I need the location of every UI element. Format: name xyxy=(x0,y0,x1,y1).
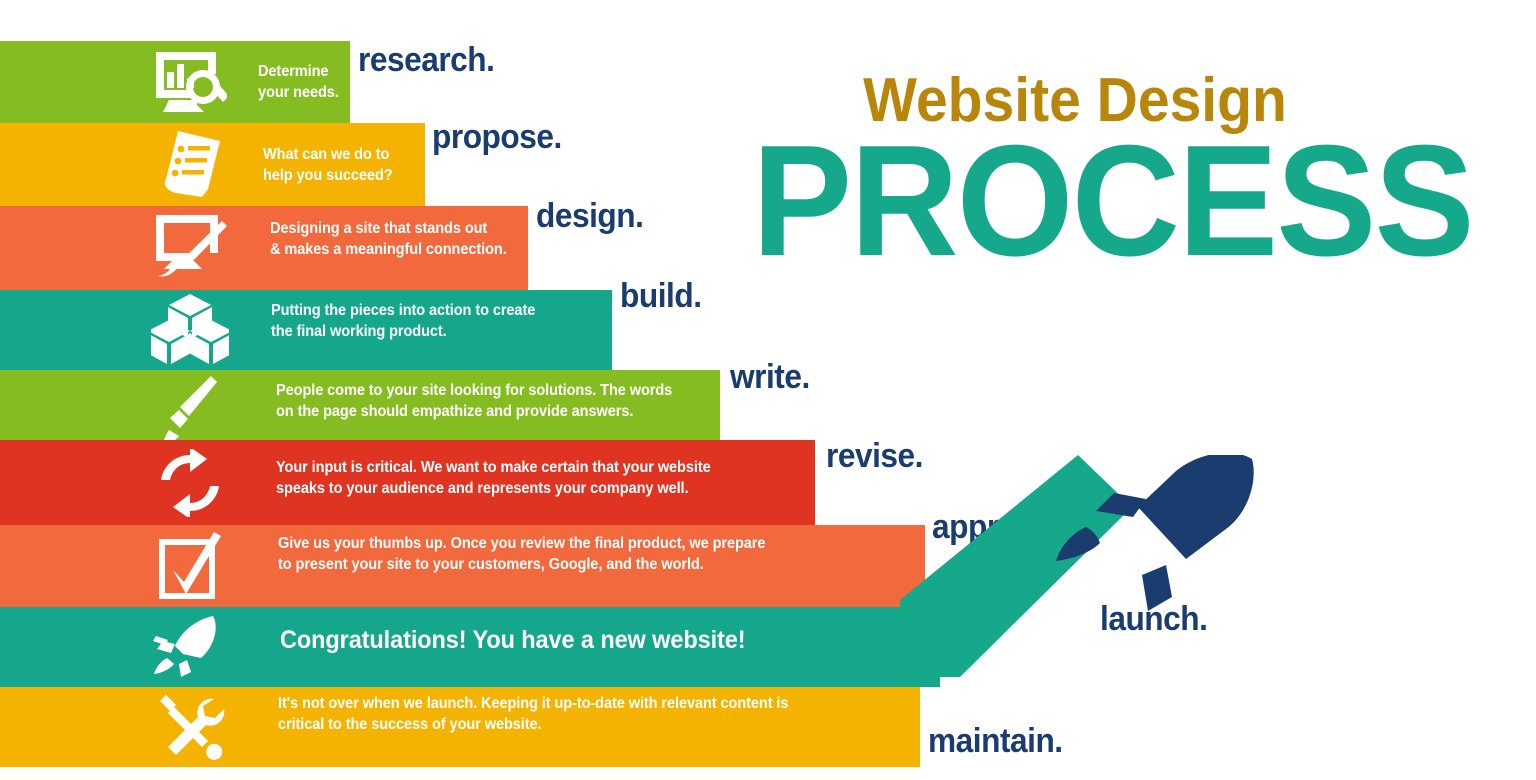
paintbrush-icon xyxy=(150,374,230,446)
step-label-propose[interactable]: propose. xyxy=(432,118,562,157)
step-description: People come to your site looking for sol… xyxy=(276,381,672,423)
step-label-revise[interactable]: revise. xyxy=(826,437,923,476)
step-label-research[interactable]: research. xyxy=(358,41,494,80)
infographic-canvas: Website Design PROCESS Determine your ne… xyxy=(0,0,1536,780)
page-title: PROCESS xyxy=(752,126,1398,276)
step-description: Congratulations! You have a new website! xyxy=(280,625,745,655)
step-label-design[interactable]: design. xyxy=(536,197,643,236)
step-label-maintain[interactable]: maintain. xyxy=(928,722,1063,761)
refresh-arrows-icon xyxy=(150,447,230,519)
step-description: Give us your thumbs up. Once you review … xyxy=(278,534,765,576)
step-description: Determine your needs. xyxy=(258,62,339,104)
rocket-icon xyxy=(150,611,230,683)
checklist-document-icon xyxy=(150,129,230,201)
step-description: Designing a site that stands out & makes… xyxy=(270,219,507,261)
rocket-body xyxy=(1056,455,1254,611)
rocket-launch-illustration xyxy=(900,455,1280,695)
step-description: Putting the pieces into action to create… xyxy=(271,301,535,343)
checkbox-check-icon xyxy=(150,530,230,602)
title-block: Website Design PROCESS xyxy=(735,70,1415,276)
step-label-build[interactable]: build. xyxy=(620,277,702,316)
rocket-illustration-group xyxy=(900,455,1280,695)
step-description: What can we do to help you succeed? xyxy=(263,145,393,187)
step-description: It's not over when we launch. Keeping it… xyxy=(278,694,788,736)
step-label-launch[interactable]: launch. xyxy=(1100,600,1207,639)
step-label-write[interactable]: write. xyxy=(730,358,810,397)
step-label-approve[interactable]: approve. xyxy=(932,508,1060,547)
monitor-chart-search-icon xyxy=(150,46,230,118)
step-description: Your input is critical. We want to make … xyxy=(276,458,711,500)
cubes-blocks-icon xyxy=(150,294,230,366)
wrench-screwdriver-icon xyxy=(150,691,230,763)
monitor-pen-icon xyxy=(150,212,230,284)
